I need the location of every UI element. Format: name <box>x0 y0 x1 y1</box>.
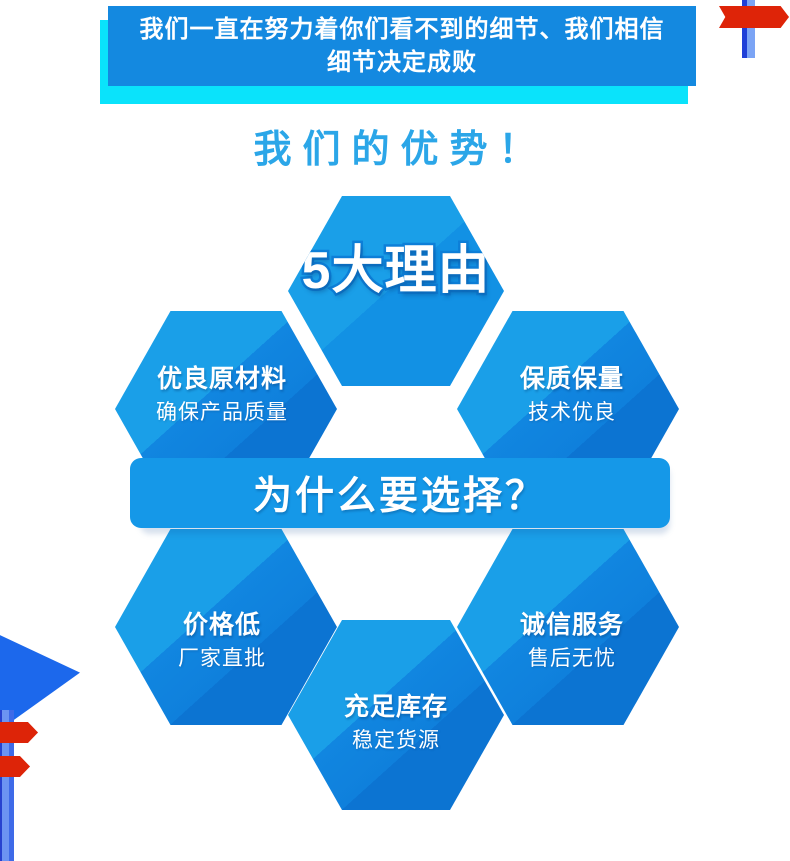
center-hex-reasons: 5大理由 <box>288 196 504 386</box>
advantage-content: 诚信服务 售后无忧 <box>520 611 624 671</box>
advantage-subtitle: 技术优良 <box>528 401 616 425</box>
signpost-arrow-sign-lower <box>0 756 30 777</box>
promo-page: 我们一直在努力着你们看不到的细节、我们相信 细节决定成败 我们的优势！ 5大理由… <box>0 0 790 861</box>
advantage-subtitle: 厂家直批 <box>178 647 266 671</box>
advantage-content: 充足库存 稳定货源 <box>344 693 448 753</box>
advantage-title: 保质保量 <box>520 365 624 394</box>
signpost-arrow-sign-upper <box>0 722 38 743</box>
cta-text: 为什么要选择？ <box>253 465 547 521</box>
advantage-content: 价格低 厂家直批 <box>178 611 266 671</box>
advantage-title: 充足库存 <box>344 693 448 722</box>
advantage-title: 诚信服务 <box>520 611 624 640</box>
cta-banner: 为什么要选择？ <box>130 458 670 528</box>
advantage-subtitle: 稳定货源 <box>352 729 440 753</box>
advantage-subtitle: 确保产品质量 <box>156 401 288 425</box>
advantage-content: 优良原材料 确保产品质量 <box>156 365 288 425</box>
advantage-subtitle: 售后无忧 <box>528 647 616 671</box>
signpost-icon-bottom-left <box>0 606 138 861</box>
advantage-content: 保质保量 技术优良 <box>520 365 624 425</box>
reasons-label: 5大理由 <box>302 228 491 303</box>
advantage-title: 优良原材料 <box>157 365 287 394</box>
advantage-title: 价格低 <box>183 611 261 640</box>
